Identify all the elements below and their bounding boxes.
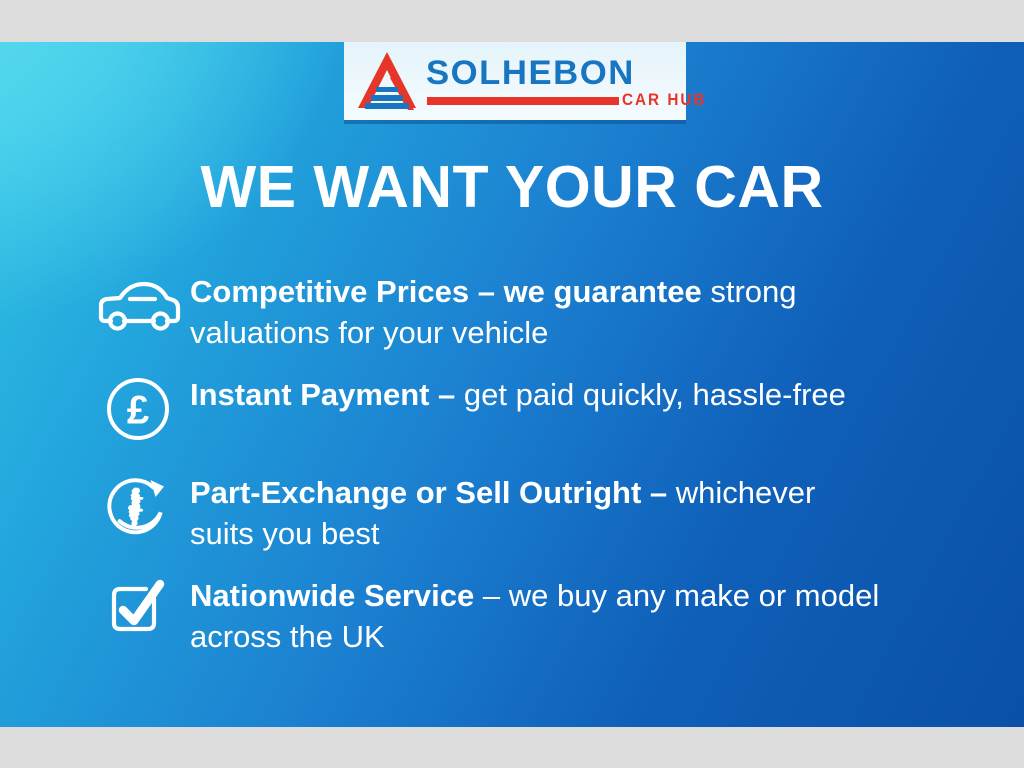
logo-accent-bar [427,97,619,105]
pound-circle-icon: £ [86,373,190,445]
svg-text:£: £ [127,389,149,433]
logo-tagline: CAR HUB [622,90,706,110]
list-item: Competitive Prices – we guarantee strong… [86,270,966,353]
letterbox-bar-top [0,0,1024,42]
page-title: WE WANT YOUR CAR [0,154,1024,220]
list-item: £ Instant Payment – get paid quickly, ha… [86,373,966,451]
car-icon [86,270,190,342]
list-item-bold: Competitive Prices – we guarantee [190,274,702,309]
list-item: Part-Exchange or Sell Outright – whichev… [86,471,966,554]
logo-name: SOLHEBON [426,53,635,93]
feature-list: Competitive Prices – we guarantee strong… [86,270,966,677]
slide-canvas: SOLHEBON CAR HUB WE WANT YOUR CAR [0,0,1024,768]
list-item-bold: Nationwide Service [190,578,483,613]
checkbox-check-icon [86,574,190,646]
list-item-bold: Part-Exchange or Sell Outright – [190,475,676,510]
letterbox-bar-bottom [0,727,1024,768]
list-item-text: Part-Exchange or Sell Outright – whichev… [190,471,880,554]
list-item: Nationwide Service – we buy any make or … [86,574,966,657]
uk-map-refresh-icon [86,471,190,543]
list-item-rest: get paid quickly, hassle-free [464,377,846,412]
brand-logo[interactable]: SOLHEBON CAR HUB [344,42,686,120]
list-item-text: Instant Payment – get paid quickly, hass… [190,373,880,415]
list-item-bold: Instant Payment – [190,377,464,412]
triangle-chevron-logo-icon [354,50,420,112]
promo-banner: SOLHEBON CAR HUB WE WANT YOUR CAR [0,42,1024,727]
list-item-text: Nationwide Service – we buy any make or … [190,574,880,657]
list-item-text: Competitive Prices – we guarantee strong… [190,270,880,353]
